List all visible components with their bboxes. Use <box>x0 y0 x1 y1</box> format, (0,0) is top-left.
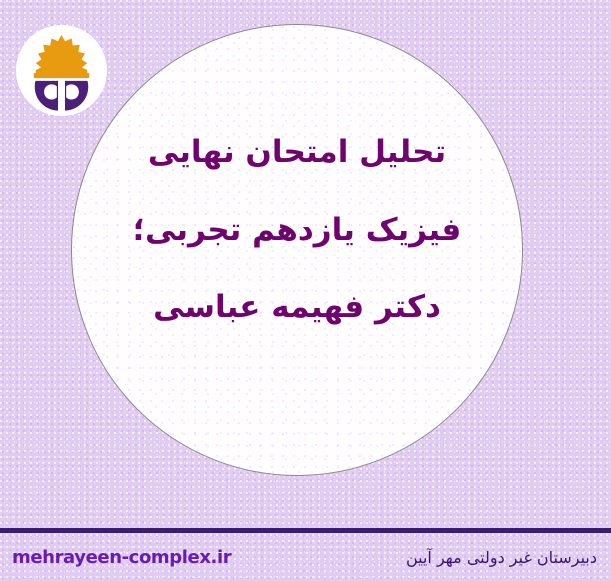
poster-canvas: تحلیل امتحان نهایی فیزیک یازدهم تجربی؛ د… <box>0 0 611 581</box>
headline-line-2: فیزیک یازدهم تجربی؛ <box>133 214 462 247</box>
headline-block: تحلیل امتحان نهایی فیزیک یازدهم تجربی؛ د… <box>71 24 523 476</box>
school-logo <box>12 21 111 120</box>
school-name-label: دبیرستان غیر دولتی مهر آیین <box>406 548 597 567</box>
headline-line-1: تحلیل امتحان نهایی <box>148 136 446 169</box>
site-url-label: mehrayeen-complex.ir <box>12 547 231 568</box>
headline-line-3: دکتر فهیمه عباسی <box>153 291 441 324</box>
footer-bar: mehrayeen-complex.ir دبیرستان غیر دولتی … <box>0 533 611 581</box>
school-logo-icon <box>12 21 111 120</box>
